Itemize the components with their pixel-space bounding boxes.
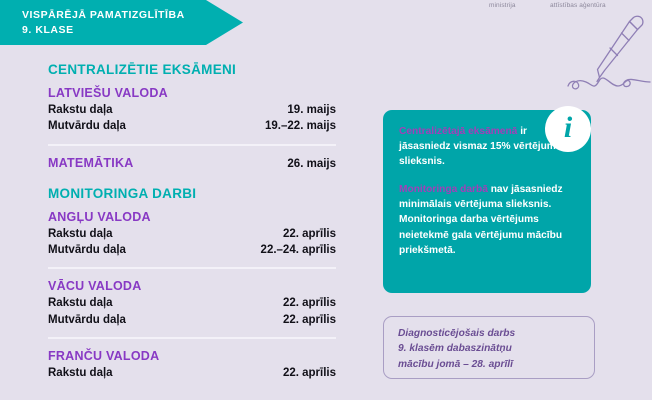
divider: [48, 337, 336, 339]
divider: [48, 267, 336, 269]
info-highlight-monitoring: Monitoringa darbā: [399, 184, 488, 195]
diagnostic-note-box: Diagnosticējošais darbs 9. klasēm dabasz…: [383, 316, 595, 379]
subject-english: ANGĻU VALODA Rakstu daļa 22. aprīlis Mut…: [48, 210, 336, 259]
subject-name: LATVIEŠU VALODA: [48, 86, 336, 100]
subject-name: FRANČU VALODA: [48, 349, 336, 363]
schedule-row: Mutvārdu daļa 22. aprīlis: [48, 312, 336, 328]
logo-caption-agency: attīstības aģentūra: [550, 2, 606, 9]
schedule-content: CENTRALIZĒTIE EKSĀMENI LATVIEŠU VALODA R…: [48, 62, 336, 381]
logo-caption-ministry: ministrija: [489, 2, 516, 9]
subject-name: ANGĻU VALODA: [48, 210, 336, 224]
banner-title-line-2: 9. KLASE: [22, 23, 243, 37]
row-label: Rakstu daļa: [48, 102, 113, 118]
schedule-row: Rakstu daļa 19. maijs: [48, 102, 336, 118]
row-date: 26. maijs: [287, 158, 336, 170]
header-banner: VISPĀRĒJĀ PAMATIZGLĪTĪBA 9. KLASE: [0, 0, 243, 45]
row-date: 22. aprīlis: [283, 312, 336, 328]
subject-german: VĀCU VALODA Rakstu daļa 22. aprīlis Mutv…: [48, 279, 336, 328]
info-highlight-exam: Centralizētajā eksāmenā: [399, 126, 517, 137]
row-label: Rakstu daļa: [48, 226, 113, 242]
subject-math: MATEMĀTIKA 26. maijs: [48, 156, 336, 170]
pen-doodle-icon: [566, 12, 652, 96]
row-date: 22. aprīlis: [283, 295, 336, 311]
schedule-row: Rakstu daļa 22. aprīlis: [48, 226, 336, 242]
section-title: CENTRALIZĒTIE EKSĀMENI: [48, 62, 336, 77]
banner-title-line-1: VISPĀRĒJĀ PAMATIZGLĪTĪBA: [22, 8, 243, 22]
divider: [48, 144, 336, 146]
info-icon: i: [545, 106, 591, 152]
info-icon-glyph: i: [564, 113, 572, 143]
subject-latvian: LATVIEŠU VALODA Rakstu daļa 19. maijs Mu…: [48, 86, 336, 135]
info-paragraph-2: Monitoringa darbā nav jāsasniedz minimāl…: [399, 182, 575, 257]
row-date: 22. aprīlis: [283, 365, 336, 381]
schedule-row: Rakstu daļa 22. aprīlis: [48, 295, 336, 311]
section-monitoring-works: MONITORINGA DARBI ANGĻU VALODA Rakstu da…: [48, 186, 336, 382]
section-title: MONITORINGA DARBI: [48, 186, 336, 201]
schedule-row: Mutvārdu daļa 22.–24. aprīlis: [48, 242, 336, 258]
row-date: 22.–24. aprīlis: [261, 242, 336, 258]
row-date: 22. aprīlis: [283, 226, 336, 242]
subject-french: FRANČU VALODA Rakstu daļa 22. aprīlis: [48, 349, 336, 381]
row-label: Mutvārdu daļa: [48, 312, 126, 328]
row-label: Rakstu daļa: [48, 365, 113, 381]
subject-name: MATEMĀTIKA: [48, 156, 134, 170]
schedule-row: Rakstu daļa 22. aprīlis: [48, 365, 336, 381]
row-date: 19. maijs: [287, 102, 336, 118]
row-label: Mutvārdu daļa: [48, 118, 126, 134]
diagnostic-line-2: 9. klasēm dabaszinātņu: [398, 341, 580, 356]
schedule-row: Mutvārdu daļa 19.–22. maijs: [48, 118, 336, 134]
row-label: Rakstu daļa: [48, 295, 113, 311]
subject-name: VĀCU VALODA: [48, 279, 336, 293]
row-label: Mutvārdu daļa: [48, 242, 126, 258]
diagnostic-line-3: mācību jomā – 28. aprīlī: [398, 357, 580, 372]
infographic-page: VISPĀRĒJĀ PAMATIZGLĪTĪBA 9. KLASE minist…: [0, 0, 652, 400]
row-date: 19.–22. maijs: [265, 118, 336, 134]
diagnostic-line-1: Diagnosticējošais darbs: [398, 326, 580, 341]
section-centralized-exams: CENTRALIZĒTIE EKSĀMENI LATVIEŠU VALODA R…: [48, 62, 336, 170]
